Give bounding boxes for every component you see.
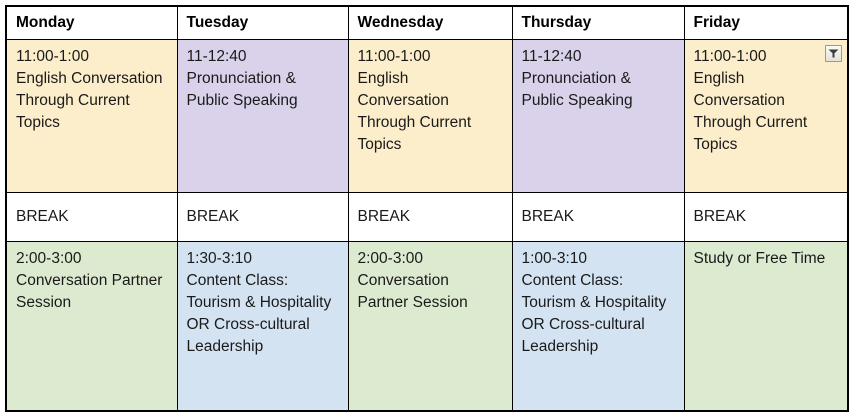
column-header-wednesday[interactable]: Wednesday (348, 6, 512, 40)
schedule-cell-text: 1:30-3:10 Content Class: Tourism & Hospi… (187, 248, 340, 358)
schedule-cell-text: 2:00-3:00 Conversation Partner Session (358, 248, 504, 314)
schedule-cell-thursday-morning[interactable]: 11-12:40 Pronunciation & Public Speaking (512, 40, 684, 193)
table-row: 2:00-3:00 Conversation Partner Session 1… (6, 242, 848, 412)
column-header-friday[interactable]: Friday (684, 6, 848, 40)
schedule-cell-friday-break[interactable]: BREAK (684, 193, 848, 242)
schedule-cell-tuesday-morning[interactable]: 11-12:40 Pronunciation & Public Speaking (177, 40, 348, 193)
column-header-label: Wednesday (358, 12, 504, 34)
schedule-cell-tuesday-break[interactable]: BREAK (177, 193, 348, 242)
schedule-cell-text: 11:00-1:00 English Conversation Through … (16, 46, 169, 134)
column-header-label: Tuesday (187, 12, 340, 34)
column-header-tuesday[interactable]: Tuesday (177, 6, 348, 40)
schedule-cell-text: 11:00-1:00 English Conversation Through … (358, 46, 504, 156)
schedule-cell-monday-break[interactable]: BREAK (6, 193, 177, 242)
schedule-cell-thursday-afternoon[interactable]: 1:00-3:10 Content Class: Tourism & Hospi… (512, 242, 684, 412)
table-row: 11:00-1:00 English Conversation Through … (6, 40, 848, 193)
schedule-cell-wednesday-afternoon[interactable]: 2:00-3:00 Conversation Partner Session (348, 242, 512, 412)
schedule-cell-text: BREAK (187, 206, 340, 228)
schedule-cell-thursday-break[interactable]: BREAK (512, 193, 684, 242)
schedule-cell-text: BREAK (16, 206, 169, 228)
schedule-cell-friday-afternoon[interactable]: Study or Free Time (684, 242, 848, 412)
filter-dropdown-icon[interactable] (825, 45, 842, 62)
column-header-label: Friday (694, 12, 840, 34)
schedule-cell-text: 11-12:40 Pronunciation & Public Speaking (187, 46, 340, 112)
weekly-schedule-table: Monday Tuesday Wednesday Thursday Friday (5, 5, 849, 412)
table-row: BREAK BREAK BREAK BREAK BREAK (6, 193, 848, 242)
table-header-row: Monday Tuesday Wednesday Thursday Friday (6, 6, 848, 40)
schedule-table-container: Monday Tuesday Wednesday Thursday Friday (5, 5, 847, 395)
schedule-cell-wednesday-morning[interactable]: 11:00-1:00 English Conversation Through … (348, 40, 512, 193)
schedule-cell-text: 11-12:40 Pronunciation & Public Speaking (522, 46, 676, 112)
schedule-cell-tuesday-afternoon[interactable]: 1:30-3:10 Content Class: Tourism & Hospi… (177, 242, 348, 412)
schedule-cell-text: BREAK (522, 206, 676, 228)
schedule-cell-text: 1:00-3:10 Content Class: Tourism & Hospi… (522, 248, 676, 358)
column-header-thursday[interactable]: Thursday (512, 6, 684, 40)
column-header-label: Monday (16, 12, 169, 34)
schedule-cell-text: BREAK (694, 206, 840, 228)
schedule-cell-text: Study or Free Time (694, 248, 840, 270)
schedule-cell-text: 11:00-1:00 English Conversation Through … (694, 46, 840, 156)
schedule-cell-text: BREAK (358, 206, 504, 228)
schedule-cell-friday-morning[interactable]: 11:00-1:00 English Conversation Through … (684, 40, 848, 193)
schedule-cell-wednesday-break[interactable]: BREAK (348, 193, 512, 242)
schedule-cell-monday-afternoon[interactable]: 2:00-3:00 Conversation Partner Session (6, 242, 177, 412)
schedule-cell-monday-morning[interactable]: 11:00-1:00 English Conversation Through … (6, 40, 177, 193)
schedule-cell-text: 2:00-3:00 Conversation Partner Session (16, 248, 169, 314)
column-header-label: Thursday (522, 12, 676, 34)
column-header-monday[interactable]: Monday (6, 6, 177, 40)
